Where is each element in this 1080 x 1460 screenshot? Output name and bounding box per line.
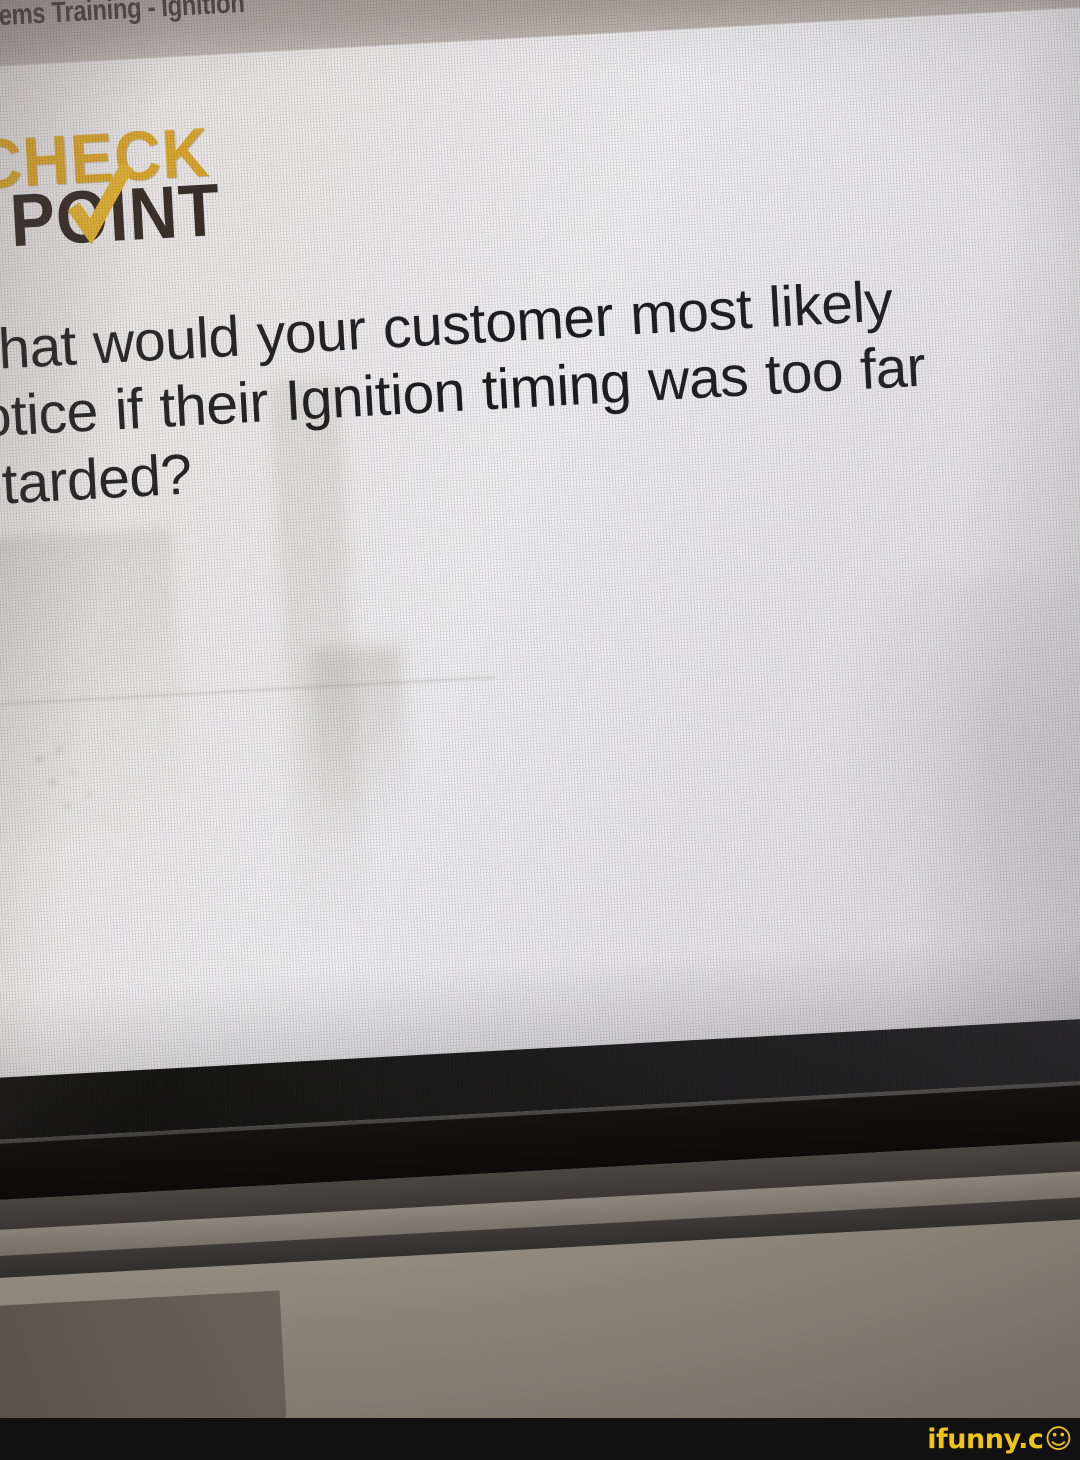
watermark-label: ifunny.c [927, 1424, 1043, 1455]
monitor-photo: tomotive Systems Training - Ignition CHE [0, 0, 1080, 1460]
ifunny-watermark-text: ifunny.c☺ [927, 1424, 1072, 1455]
screen-reflection-blob [309, 645, 411, 840]
window-title-text: tomotive Systems Training - Ignition [0, 0, 245, 41]
screen-reflection-dots [20, 732, 146, 848]
smiley-icon: ☺ [1044, 1424, 1072, 1455]
logo-point-text: POINT [8, 167, 223, 264]
check-point-logo: CHECK POINT [0, 108, 301, 275]
application-window: tomotive Systems Training - Ignition CHE [0, 0, 1080, 1163]
slide-canvas: CHECK POINT What would your customer mos… [0, 3, 1080, 1079]
monitor: tomotive Systems Training - Ignition CHE [0, 0, 1080, 1333]
ifunny-watermark-bar: ifunny.c☺ [0, 1418, 1080, 1460]
monitor-screen: tomotive Systems Training - Ignition CHE [0, 0, 1080, 1163]
screen-glare [831, 564, 1080, 1001]
question-text: What would your customer most likely not… [0, 252, 1080, 521]
